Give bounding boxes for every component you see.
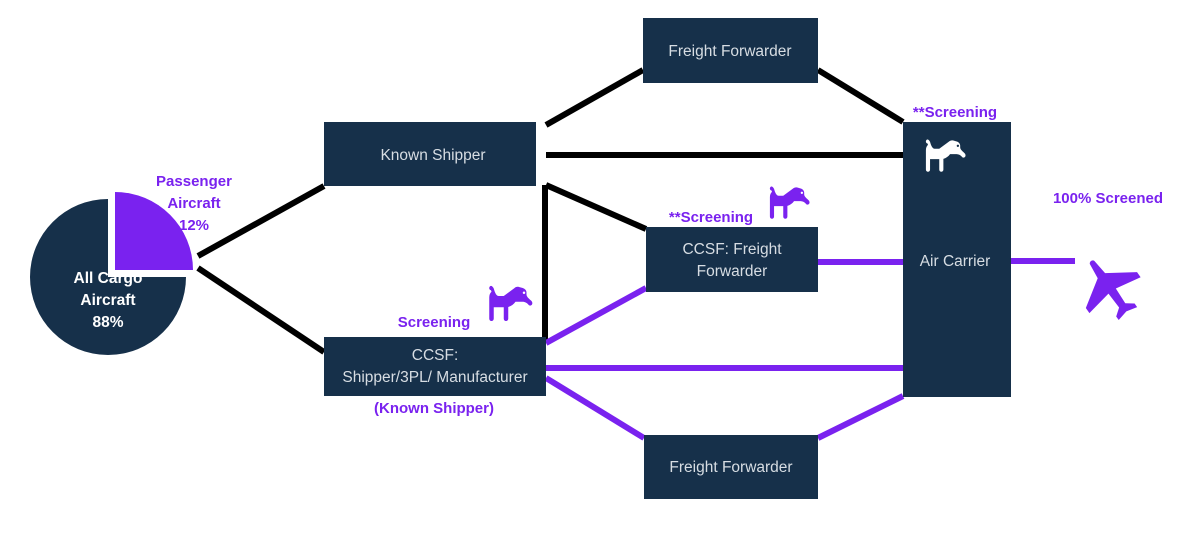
node-label: Freight Forwarder: [669, 459, 792, 476]
edge-ccsf-shipper-to-ff-bottom: [546, 378, 644, 438]
dog-icon: [770, 187, 810, 219]
node-label: Known Shipper: [380, 147, 485, 164]
node-label-line2: Shipper/3PL/ Manufacturer: [342, 369, 527, 386]
edge-pie-to-ccsf-shipper: [198, 268, 324, 352]
annotation-known-shipper-note: (Known Shipper): [374, 400, 494, 417]
annotation-label: Screening: [398, 314, 471, 331]
node-freight-forwarder-bottom[interactable]: Freight Forwarder: [644, 435, 818, 499]
pie-label-all-cargo-value: 88%: [92, 314, 123, 331]
annotation-screening-ccsf-shipper: Screening: [398, 286, 533, 331]
node-box[interactable]: [646, 227, 818, 292]
edge-known-shipper-to-ccsf-ff: [546, 185, 646, 229]
pie-label-all-cargo-line2: Aircraft: [80, 292, 135, 309]
supply-chain-diagram: All Cargo Aircraft 88% Passenger Aircraf…: [0, 0, 1196, 534]
node-label-line1: CCSF:: [412, 347, 459, 364]
annotation-screening-ccsf-ff: **Screening: [669, 187, 810, 226]
node-label: Freight Forwarder: [668, 43, 791, 60]
node-label: Air Carrier: [920, 253, 991, 270]
pie-label-all-cargo-line1: All Cargo: [74, 270, 143, 287]
black-connectors: [198, 70, 903, 352]
node-ccsf-shipper[interactable]: CCSF: Shipper/3PL/ Manufacturer: [324, 337, 546, 396]
pie-label-passenger-line2: Aircraft: [167, 195, 220, 212]
annotation-label: 100% Screened: [1053, 190, 1163, 207]
node-ccsf-freight-forwarder[interactable]: CCSF: Freight Forwarder: [646, 227, 818, 292]
pie-label-passenger-line1: Passenger: [156, 173, 232, 190]
annotation-screening-air-carrier: **Screening: [913, 104, 997, 121]
node-label-line1: CCSF: Freight: [682, 241, 782, 258]
edge-ff-top-to-air-carrier: [818, 70, 903, 122]
node-known-shipper[interactable]: Known Shipper: [324, 122, 536, 186]
aircraft-type-pie: All Cargo Aircraft 88%: [30, 192, 193, 355]
node-label-line2: Forwarder: [697, 263, 768, 280]
diagram-canvas: All Cargo Aircraft 88% Passenger Aircraf…: [0, 0, 1196, 534]
edge-ff-bottom-to-air-carrier: [818, 396, 903, 438]
node-air-carrier[interactable]: Air Carrier: [903, 122, 1011, 397]
node-freight-forwarder-top[interactable]: Freight Forwarder: [643, 18, 818, 83]
annotation-label: **Screening: [669, 209, 753, 226]
pie-label-passenger-value: 12%: [179, 217, 209, 234]
node-box[interactable]: [324, 337, 546, 396]
edge-ccsf-shipper-to-ccsf-ff: [546, 288, 646, 343]
airplane-icon: [1066, 243, 1154, 331]
dog-icon: [489, 286, 532, 321]
edge-known-shipper-to-ff-top: [546, 70, 643, 125]
